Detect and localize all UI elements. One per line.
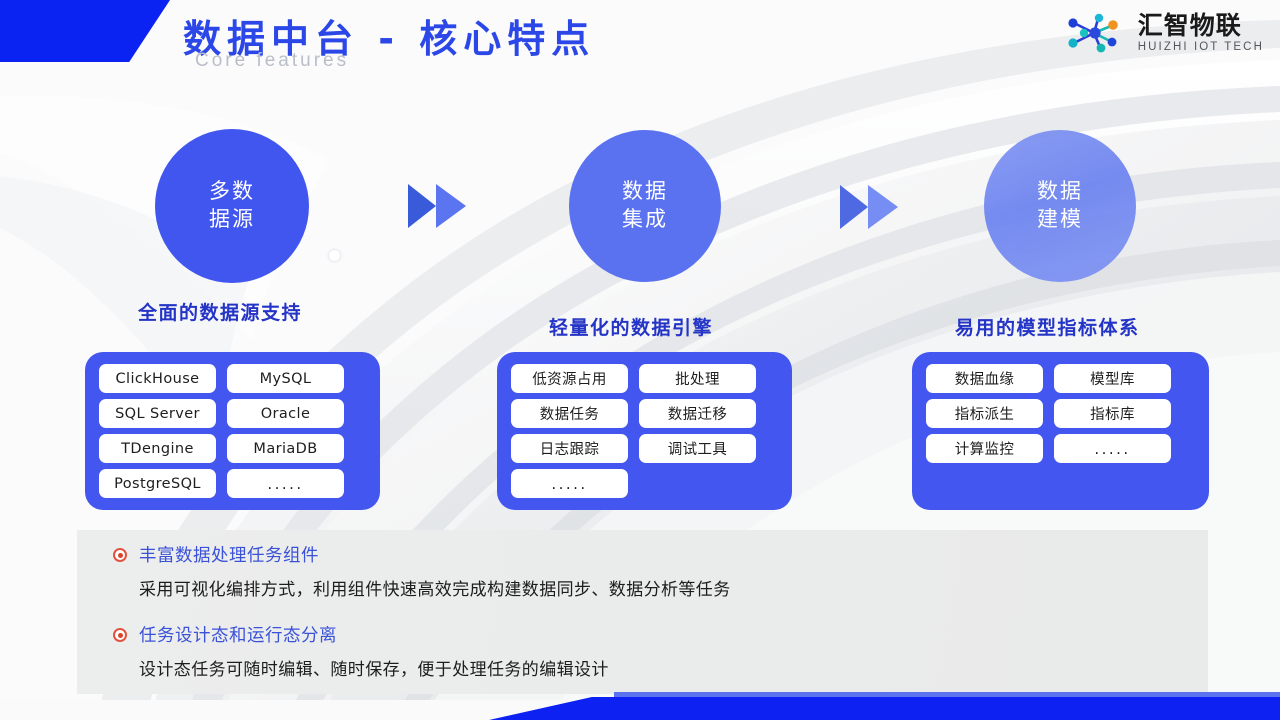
stage-3-circle[interactable]: 数据 建模 xyxy=(984,130,1136,282)
stage-1-circle-line2: 据源 xyxy=(209,206,255,234)
tag-item[interactable]: PostgreSQL xyxy=(99,469,216,498)
tag-item[interactable]: 批处理 xyxy=(639,364,756,393)
brand-logo: 汇智物联 HUIZHI IOT TECH xyxy=(1064,12,1264,53)
stage-2-circle-shape: 数据 集成 xyxy=(569,130,721,282)
slide-canvas: 数据中台 - 核心特点 Core features 汇智物联 HUIZHI I xyxy=(0,0,1280,720)
stage-2-tag-panel: 低资源占用 批处理 数据任务 数据迁移 日志跟踪 调试工具 ..... xyxy=(497,352,792,510)
stage-3-tag-panel: 数据血缘 模型库 指标派生 指标库 计算监控 ..... xyxy=(912,352,1209,510)
stage-3-circle-line2: 建模 xyxy=(1037,206,1083,234)
bullet-marker-icon xyxy=(113,628,127,642)
stage-2-circle-line1: 数据 xyxy=(622,178,668,206)
tag-item[interactable]: 低资源占用 xyxy=(511,364,628,393)
double-chevron-right-icon xyxy=(406,180,470,232)
tag-item[interactable]: 日志跟踪 xyxy=(511,434,628,463)
feature-1-body: 采用可视化编排方式，利用组件快速高效完成构建数据同步、数据分析等任务 xyxy=(77,575,1208,600)
tag-item[interactable]: TDengine xyxy=(99,434,216,463)
feature-2-heading: 任务设计态和运行态分离 xyxy=(139,622,337,647)
stage-3-caption: 易用的模型指标体系 xyxy=(955,313,1140,340)
tag-item[interactable]: 数据迁移 xyxy=(639,399,756,428)
tag-item[interactable]: 数据任务 xyxy=(511,399,628,428)
features-panel: 丰富数据处理任务组件 采用可视化编排方式，利用组件快速高效完成构建数据同步、数据… xyxy=(77,530,1208,694)
stage-1-tag-panel: ClickHouse MySQL SQL Server Oracle TDeng… xyxy=(85,352,380,510)
tag-item-more[interactable]: ..... xyxy=(1054,434,1171,463)
feature-block-2: 任务设计态和运行态分离 设计态任务可随时编辑、随时保存，便于处理任务的编辑设计 xyxy=(77,622,1208,680)
tag-item[interactable]: ClickHouse xyxy=(99,364,216,393)
logo-name-en: HUIZHI IOT TECH xyxy=(1138,41,1264,53)
tag-item[interactable]: 指标派生 xyxy=(926,399,1043,428)
feature-2-body: 设计态任务可随时编辑、随时保存，便于处理任务的编辑设计 xyxy=(77,655,1208,680)
stage-2-circle-line2: 集成 xyxy=(622,206,668,234)
stage-2-circle[interactable]: 数据 集成 xyxy=(569,130,721,282)
tag-item[interactable]: 调试工具 xyxy=(639,434,756,463)
tag-item[interactable]: MariaDB xyxy=(227,434,344,463)
feature-1-heading: 丰富数据处理任务组件 xyxy=(139,542,319,567)
stage-1-caption: 全面的数据源支持 xyxy=(138,298,302,325)
stage-2-caption: 轻量化的数据引擎 xyxy=(549,313,713,340)
feature-block-1: 丰富数据处理任务组件 采用可视化编排方式，利用组件快速高效完成构建数据同步、数据… xyxy=(77,542,1208,600)
tag-item-more[interactable]: ..... xyxy=(511,469,628,498)
stage-3-circle-line1: 数据 xyxy=(1037,178,1083,206)
stage-3-circle-shape: 数据 建模 xyxy=(984,130,1136,282)
tag-item[interactable]: Oracle xyxy=(227,399,344,428)
double-chevron-right-icon-2 xyxy=(838,181,902,233)
molecule-nodes-icon xyxy=(1064,13,1130,53)
logo-name-cn: 汇智物联 xyxy=(1138,12,1242,39)
page-subtitle: Core features xyxy=(195,50,349,72)
stage-1-circle[interactable]: 多数 据源 xyxy=(155,129,309,283)
decorative-dot xyxy=(329,250,340,261)
tag-item[interactable]: 指标库 xyxy=(1054,399,1171,428)
tag-item-more[interactable]: ..... xyxy=(227,469,344,498)
stage-1-circle-line1: 多数 xyxy=(209,178,255,206)
bottom-right-accent-wedge xyxy=(489,697,1280,720)
tag-item[interactable]: SQL Server xyxy=(99,399,216,428)
tag-item[interactable]: MySQL xyxy=(227,364,344,393)
tag-item[interactable]: 模型库 xyxy=(1054,364,1171,393)
tag-item[interactable]: 数据血缘 xyxy=(926,364,1043,393)
bullet-marker-icon xyxy=(113,548,127,562)
tag-item[interactable]: 计算监控 xyxy=(926,434,1043,463)
stage-1-circle-shape: 多数 据源 xyxy=(155,129,309,283)
